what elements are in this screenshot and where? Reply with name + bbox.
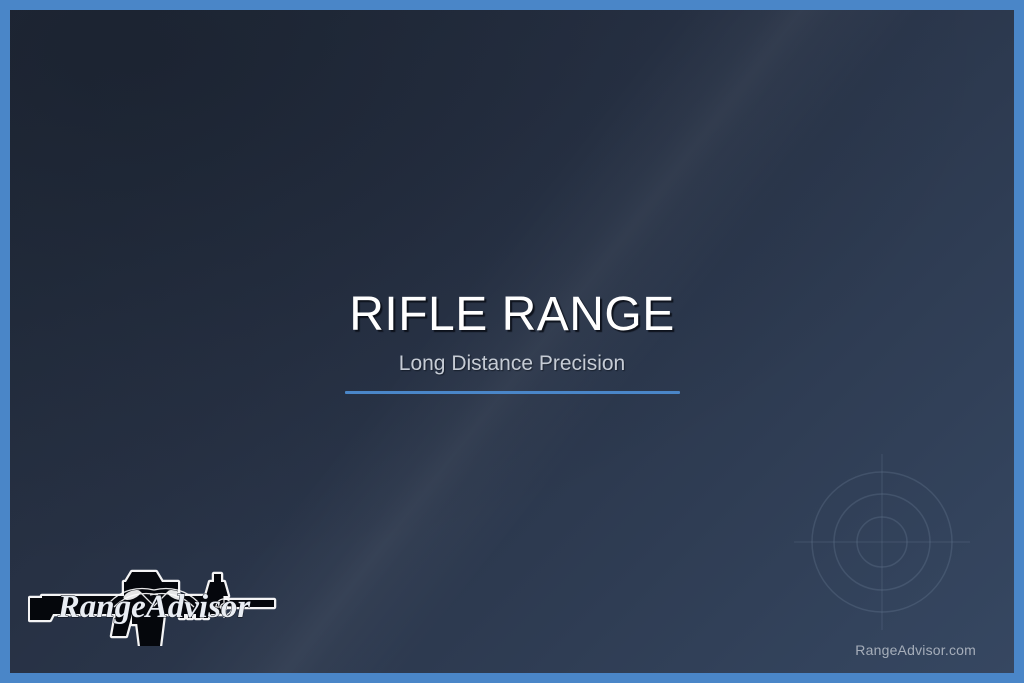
site-watermark: RangeAdvisor.com: [855, 642, 976, 658]
slide-frame: RIFLE RANGE Long Distance Precision: [0, 0, 1024, 683]
page-title: RIFLE RANGE: [10, 291, 1014, 339]
slide-canvas: RIFLE RANGE Long Distance Precision: [10, 10, 1014, 673]
brand-logo-wordmark: RangeAdvisor: [57, 589, 252, 625]
title-divider: [345, 391, 680, 394]
page-subtitle: Long Distance Precision: [10, 353, 1014, 374]
brand-logo: RangeAdvisor: [28, 562, 280, 646]
title-block: RIFLE RANGE Long Distance Precision: [10, 291, 1014, 394]
target-crosshair-icon: [792, 452, 972, 632]
